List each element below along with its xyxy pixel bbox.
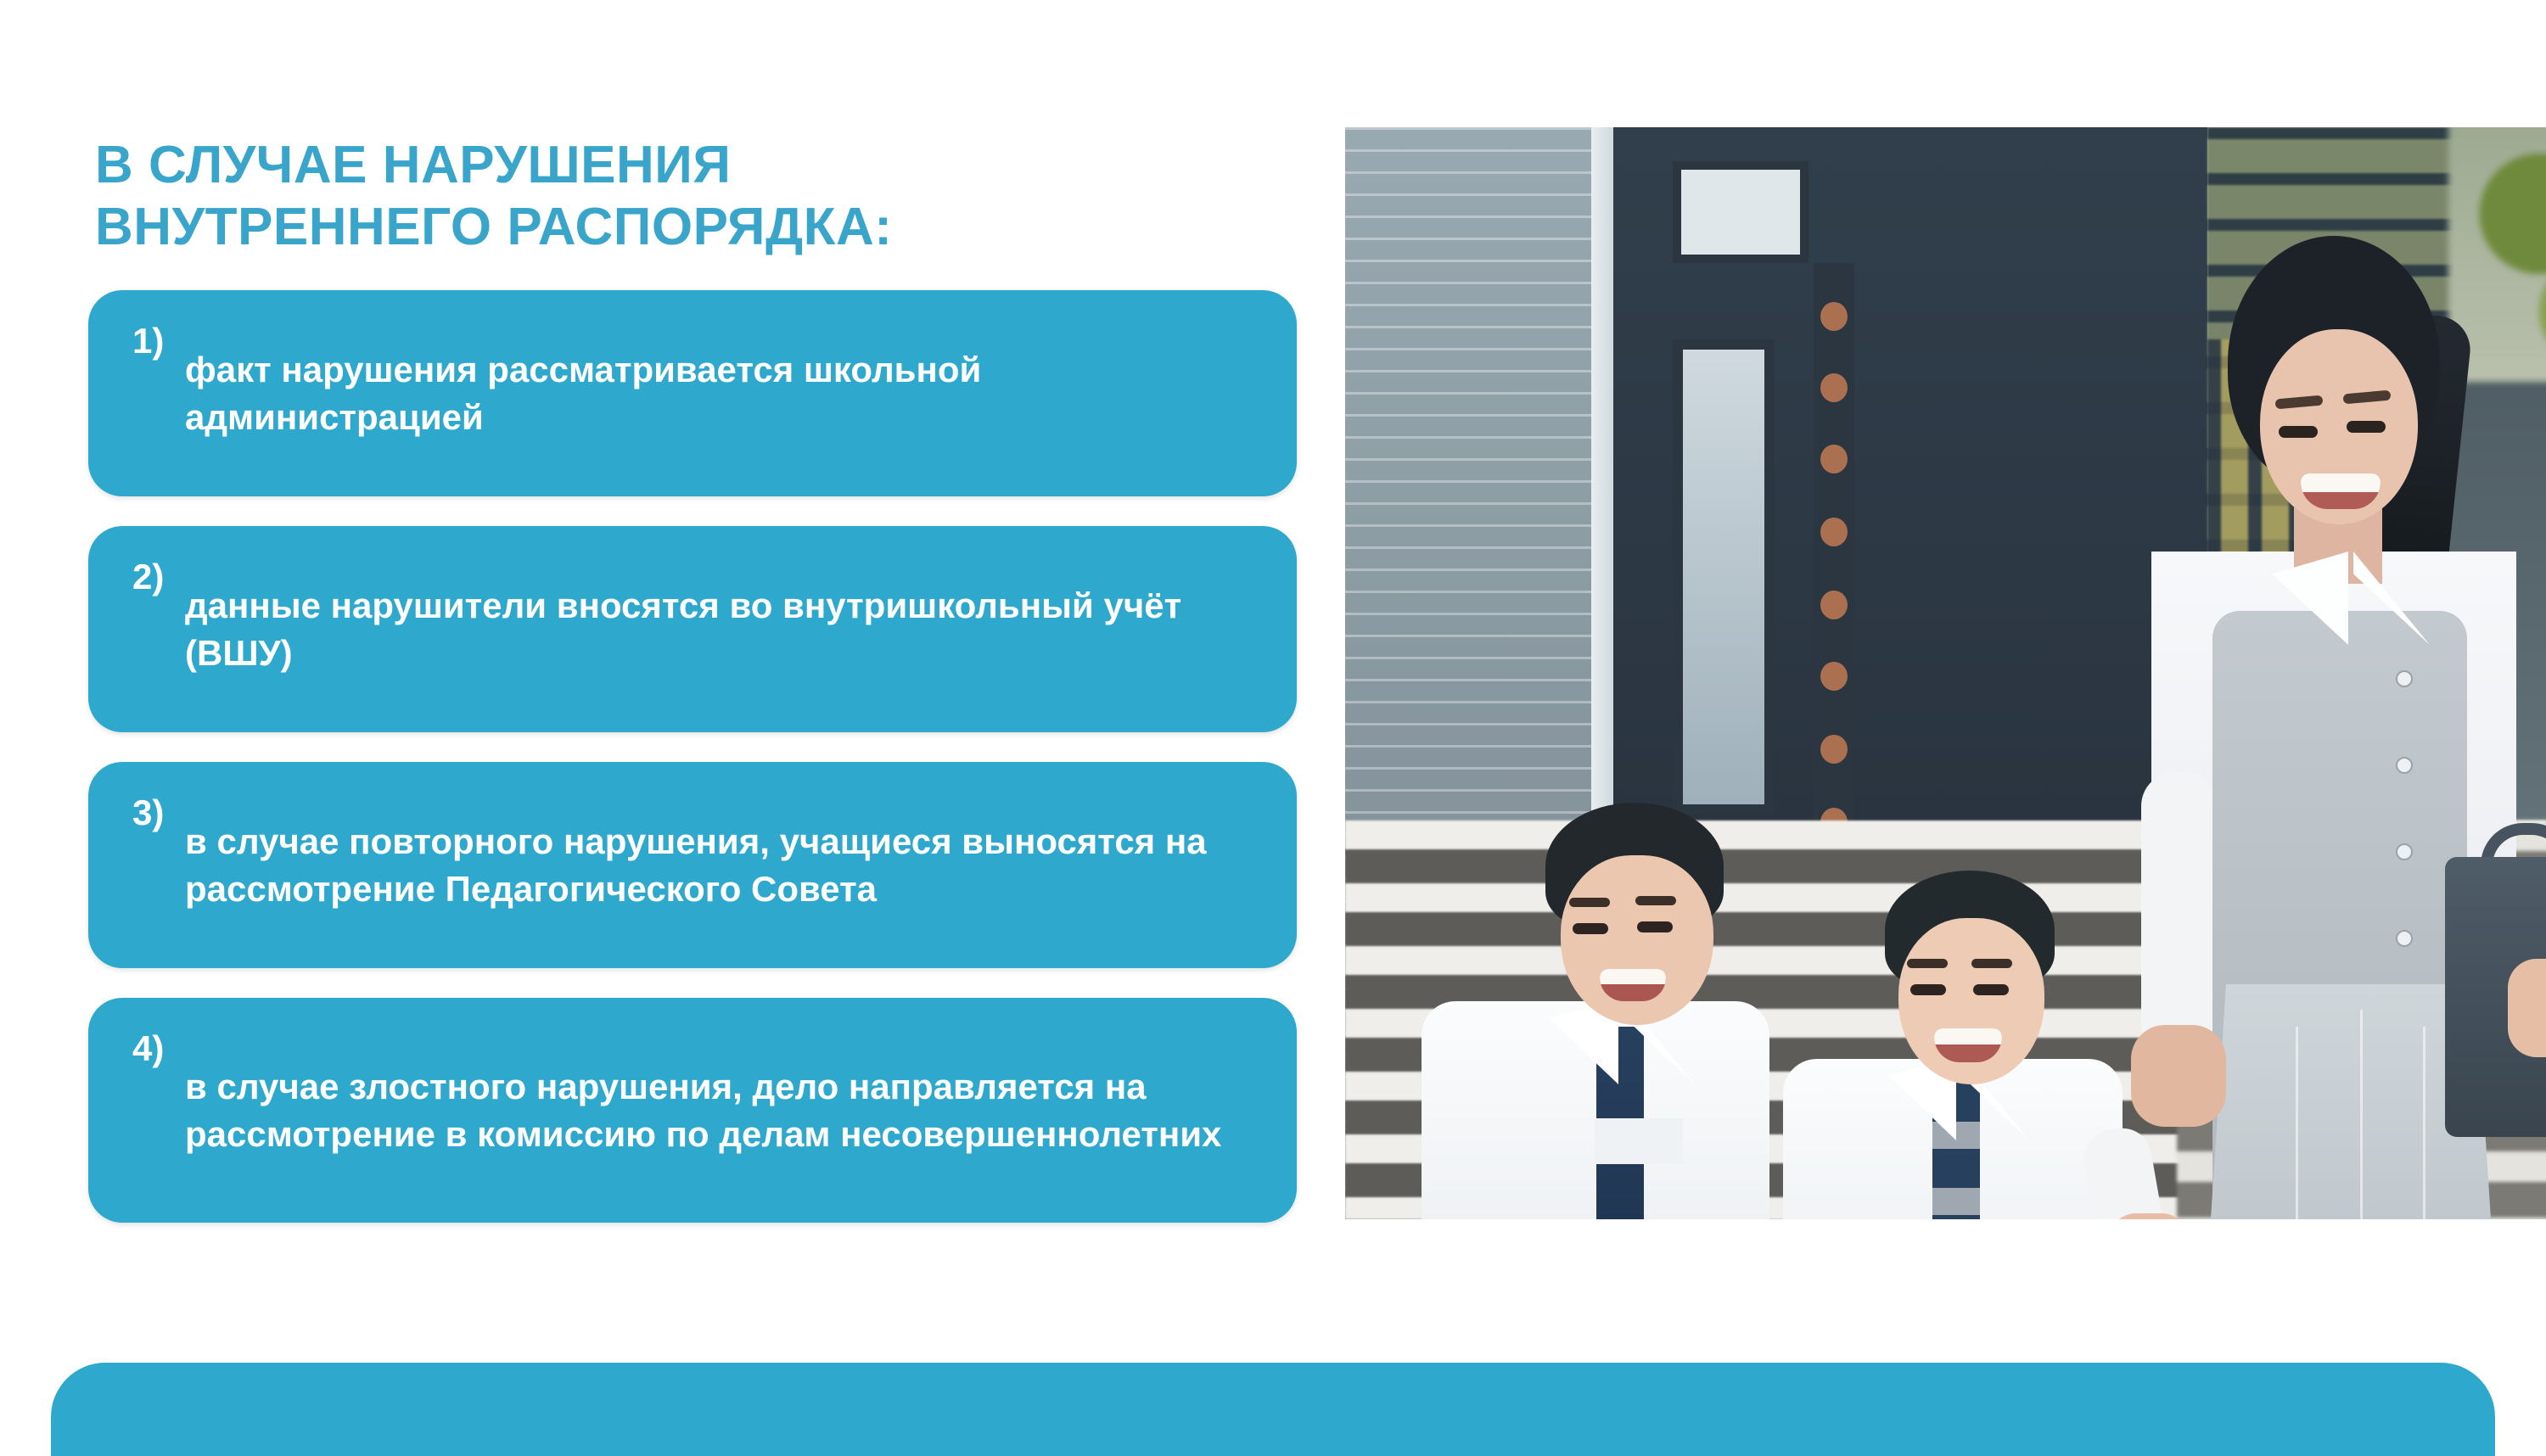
numbered-card[interactable]: 1) факт нарушения рассматривается школьн… bbox=[88, 290, 1297, 496]
boy2-eye-right bbox=[1973, 984, 2009, 995]
woman-arm bbox=[2141, 772, 2218, 1061]
boy1-eyebrow-left bbox=[1569, 898, 1610, 907]
numbered-card[interactable]: 2) данные нарушители вносятся во внутриш… bbox=[88, 526, 1297, 732]
boy1-eye-left bbox=[1573, 923, 1608, 934]
boy2-teeth bbox=[1934, 1028, 2002, 1044]
vest-button bbox=[2396, 757, 2413, 774]
boy1-tie-band bbox=[1595, 1118, 1683, 1164]
door-ornament bbox=[1820, 735, 1848, 764]
door-ornament bbox=[1820, 662, 1848, 691]
school-family-photo bbox=[1345, 127, 2546, 1219]
card-number: 4) bbox=[132, 1025, 185, 1072]
card-text: факт нарушения рассматривается школьной … bbox=[185, 346, 1259, 441]
boy1-mouth bbox=[1600, 969, 1666, 1001]
door-panel bbox=[1673, 161, 1809, 263]
door-ornament bbox=[1820, 445, 1848, 473]
photo-content bbox=[1345, 127, 2546, 1219]
card-text: в случае повторного нарушения, учащиеся … bbox=[185, 818, 1259, 913]
woman-hand-right bbox=[2508, 959, 2546, 1057]
boy2-eyebrow-left bbox=[1907, 959, 1948, 968]
door-ornament bbox=[1820, 373, 1848, 402]
numbered-card[interactable]: 4) в случае злостного нарушения, дело на… bbox=[88, 998, 1297, 1223]
woman-eye-right bbox=[2347, 421, 2386, 433]
boy1-eyebrow-right bbox=[1635, 896, 1676, 905]
slide-root: В СЛУЧАЕ НАРУШЕНИЯ ВНУТРЕННЕГО РАСПОРЯДК… bbox=[0, 0, 2546, 1432]
boy2-mouth bbox=[1934, 1028, 2002, 1062]
card-number: 3) bbox=[132, 789, 185, 837]
door-ornament bbox=[1820, 302, 1848, 331]
door-ornament bbox=[1820, 518, 1848, 546]
card-number: 2) bbox=[132, 553, 185, 601]
boy2-eye-left bbox=[1910, 984, 1946, 995]
woman-eye-left bbox=[2279, 426, 2318, 438]
boy2-eyebrow-right bbox=[1971, 959, 2012, 968]
boy1-teeth bbox=[1600, 969, 1666, 984]
skirt-fold bbox=[2360, 1010, 2363, 1219]
woman-hand-left bbox=[2131, 1025, 2226, 1127]
card-number: 1) bbox=[132, 317, 185, 365]
woman-teeth bbox=[2301, 473, 2381, 492]
numbered-card[interactable]: 3) в случае повторного нарушения, учащие… bbox=[88, 762, 1297, 968]
vest-button bbox=[2396, 930, 2413, 947]
card-text: в случае злостного нарушения, дело напра… bbox=[185, 1063, 1259, 1158]
vest-button bbox=[2396, 670, 2413, 687]
numbered-card-list: 1) факт нарушения рассматривается школьн… bbox=[88, 290, 1297, 1252]
door-glass bbox=[1673, 339, 1775, 815]
door-ornament bbox=[1820, 591, 1848, 619]
card-text: данные нарушители вносятся во внутришкол… bbox=[185, 582, 1259, 677]
bottom-decorative-bar bbox=[51, 1363, 2495, 1456]
skirt-fold bbox=[2423, 1027, 2425, 1219]
vest-button bbox=[2396, 843, 2413, 860]
skirt-fold bbox=[2296, 1027, 2298, 1219]
slide-title: В СЛУЧАЕ НАРУШЕНИЯ ВНУТРЕННЕГО РАСПОРЯДК… bbox=[95, 134, 1198, 258]
boy1-eye-right bbox=[1637, 921, 1673, 932]
woman-mouth bbox=[2301, 473, 2381, 509]
